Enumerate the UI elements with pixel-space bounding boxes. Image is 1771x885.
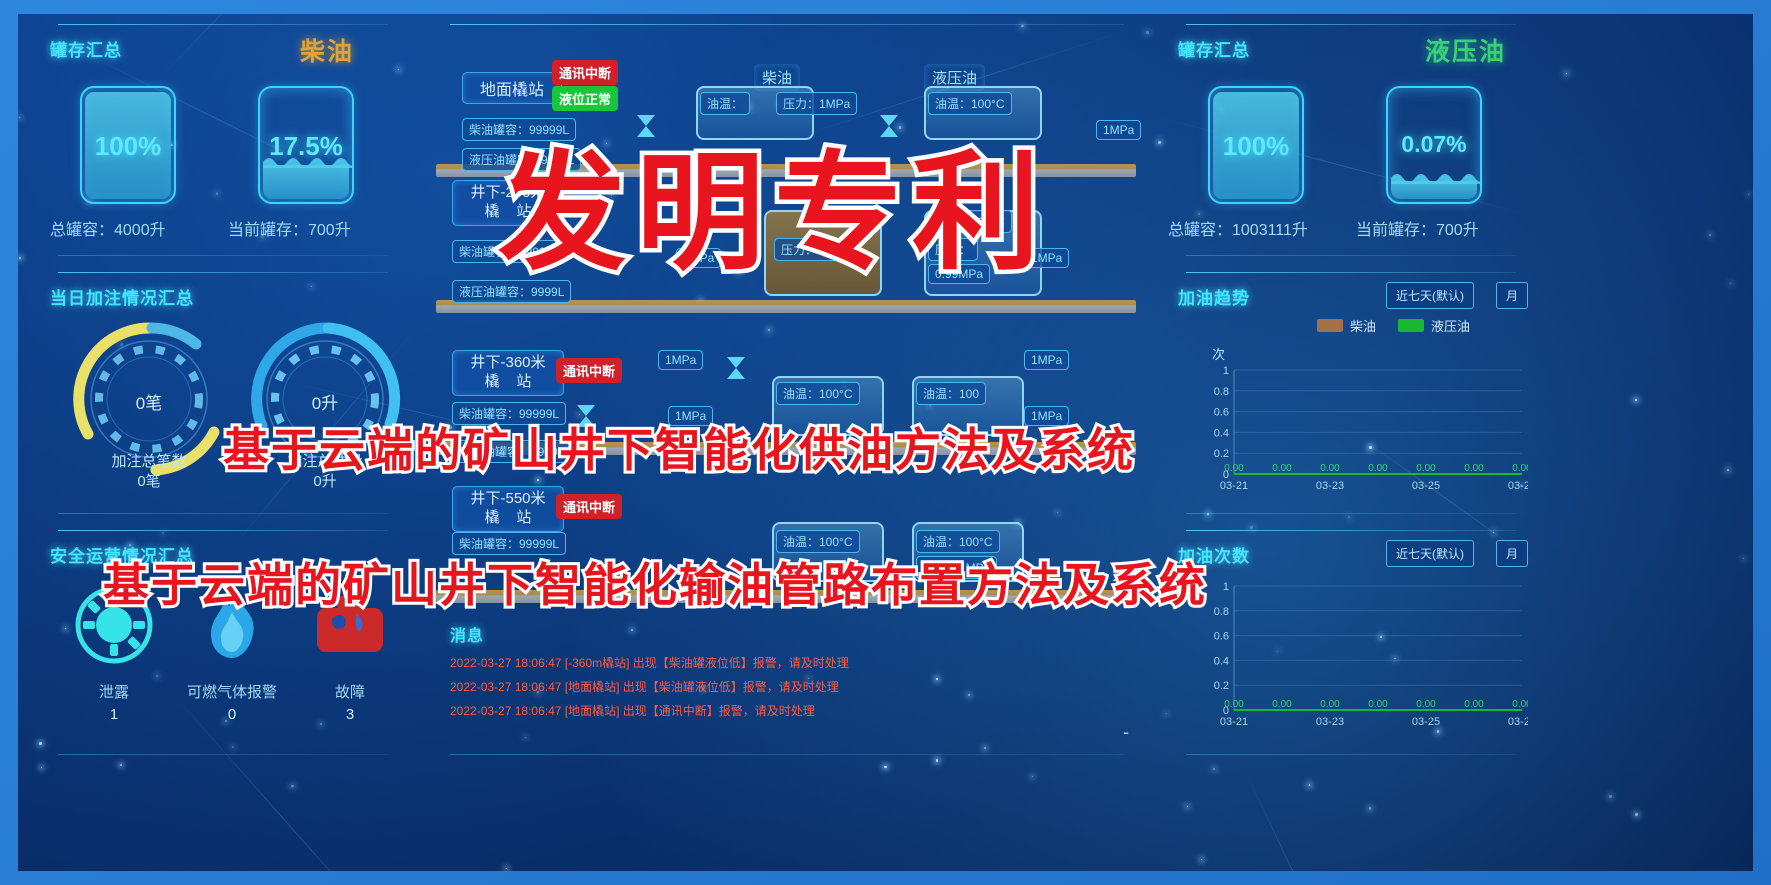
chart-point-label: 0.00 <box>1368 699 1388 710</box>
gauge-refuel-count-value: 0笔 <box>64 389 234 414</box>
gear-icon <box>71 582 157 668</box>
chart-point-label: 0.00 <box>1512 699 1528 710</box>
pressure-360-b: 1MPa <box>668 406 713 426</box>
tank-total-caption-hydraulic: 总罐容：1003111升 <box>1168 216 1308 240</box>
outer-frame: 罐存汇总 柴油 100% 总罐容：4000升 17.5% 当前罐存：700升 <box>0 0 1771 885</box>
chart-point-label: 0.00 <box>1272 463 1292 474</box>
panel-left-tank-summary: 罐存汇总 柴油 100% 总罐容：4000升 17.5% 当前罐存：700升 <box>32 24 414 256</box>
dashboard-board: 罐存汇总 柴油 100% 总罐容：4000升 17.5% 当前罐存：700升 <box>18 14 1753 871</box>
sensor-ground-diesel-pres: 压力：1MPa <box>776 92 857 115</box>
panel-title-refuel-count: 加油次数 <box>1178 542 1250 567</box>
panel-title-safety: 安全运营情况汇总 <box>50 542 194 567</box>
station-tag-200-hydraulic: 液压油罐容：9999L <box>452 280 571 303</box>
chart-x-tick-label: 03-27 <box>1508 716 1528 728</box>
station-name-360[interactable]: 井下-360米 橇 站 <box>452 350 564 396</box>
chart-x-tick-label: 03-25 <box>1412 716 1440 728</box>
tank-total-percent-diesel: 100% <box>82 131 174 162</box>
gauge-refuel-volume-caption: 加注总油量 0升 <box>235 452 415 493</box>
chart-x-tick-label: 03-21 <box>1220 716 1248 728</box>
sensor-200-diesel-pres: 压力：1MPa <box>774 238 855 261</box>
station-name-200[interactable]: 井下-200米 橇 站 <box>452 180 564 226</box>
panel-title-daily-refuel: 当日加注情况汇总 <box>50 284 194 309</box>
chart-point-label: 0.00 <box>1224 699 1244 710</box>
pressure-ground-right: 1MPa <box>1096 120 1141 140</box>
tank-gauge-current-hydraulic: 0.07% <box>1386 86 1482 204</box>
chart-svg: 00.20.40.60.810.000.000.000.000.000.000.… <box>1208 580 1528 732</box>
sensor-ground-hyd-temp: 油温：100°C <box>928 92 1012 115</box>
refuel-volume-caption-label: 加注总油量 <box>287 453 362 470</box>
station-badge-ground-comm: 通讯中断 <box>552 60 618 85</box>
station-tag-360-hydraulic: 液压油罐容：9999L <box>452 440 571 463</box>
tank-current-percent-diesel: 17.5% <box>260 131 352 162</box>
chart-trend-y-unit: 次 <box>1212 344 1225 363</box>
sensor-200-hyd-pres: 压力： <box>928 238 978 261</box>
safety-item-leak[interactable]: 泄露 1 <box>54 582 174 723</box>
chart-point-label: 0.00 <box>1416 463 1436 474</box>
chart-point-label: 0.00 <box>1368 463 1388 474</box>
safety-value-gas-alarm: 0 <box>172 706 292 723</box>
legend-item-diesel[interactable]: 柴油 <box>1317 316 1376 335</box>
legend-label-hydraulic: 液压油 <box>1431 316 1470 335</box>
chart-point-label: 0.00 <box>1320 463 1340 474</box>
tank-total-caption-diesel: 总罐容：4000升 <box>50 216 166 240</box>
sensor-550-hyd-pres: 压力：1MPa <box>916 556 997 579</box>
message-log-item: 2022-03-27 18:06:47 [地面橇站] 出现【通讯中断】报警，请及… <box>450 702 1090 719</box>
legend-item-hydraulic[interactable]: 液压油 <box>1398 316 1470 335</box>
message-log-title: 消息 <box>450 622 484 646</box>
sensor-200-hyd-pres2: 0.99MPa <box>928 264 990 284</box>
chart-point-label: 0.00 <box>1464 699 1484 710</box>
refuel-count-caption-label: 加注总笔数 <box>111 453 186 470</box>
panel-title-right-tank: 罐存汇总 <box>1178 36 1250 61</box>
gauge-refuel-count-caption: 加注总笔数 0笔 <box>59 452 239 493</box>
chart-x-tick-label: 03-21 <box>1220 480 1248 492</box>
chart-y-tick-label: 0.4 <box>1214 427 1229 439</box>
chart-y-tick-label: 0.6 <box>1214 407 1229 419</box>
legend-swatch-diesel <box>1317 319 1343 332</box>
chart-y-tick-label: 0.8 <box>1214 386 1229 398</box>
tank-current-caption-diesel: 当前罐存：700升 <box>228 216 351 240</box>
sensor-200-hyd-temp: 油温：100°C <box>928 210 1012 233</box>
station-tag-ground-hydraulic: 液压油罐容：9999L <box>462 148 581 171</box>
chart-y-tick-label: 1 <box>1223 581 1229 593</box>
chart-y-tick-label: 0.2 <box>1214 680 1229 692</box>
chart-svg: 00.20.40.60.810.000.000.000.000.000.000.… <box>1208 364 1528 496</box>
sensor-550-diesel-temp: 油温：100°C <box>776 530 860 553</box>
pressure-200-right: 1MPa <box>1024 248 1069 268</box>
message-log-item: 2022-03-27 18:06:47 [地面橇站] 出现【柴油罐液位低】报警，… <box>450 678 1090 695</box>
chart-x-tick-label: 03-23 <box>1316 480 1344 492</box>
panel-refuel-trend: 加油趋势 近七天(默认) 月 柴油 液压油 次 00.20.40.60.810.… <box>1160 272 1542 514</box>
sensor-550-hyd-temp: 油温：100°C <box>916 530 1000 553</box>
tank-current-percent-hydraulic: 0.07% <box>1388 131 1480 158</box>
oil-type-label-hydraulic: 液压油 <box>1425 32 1506 68</box>
panel-title-refuel-trend: 加油趋势 <box>1178 284 1250 309</box>
safety-item-gas-alarm[interactable]: 可燃气体报警 0 <box>172 582 292 723</box>
chart-point-label: 0.00 <box>1320 699 1340 710</box>
range-button-week-count[interactable]: 近七天(默认) <box>1386 540 1474 567</box>
chart-point-label: 0.00 <box>1464 463 1484 474</box>
chart-point-label: 0.00 <box>1272 699 1292 710</box>
chart-point-label: 0.00 <box>1224 463 1244 474</box>
sensor-360-diesel-temp: 油温：100°C <box>776 382 860 405</box>
safety-item-fault[interactable]: 故障 3 <box>290 582 410 723</box>
chart-x-tick-label: 03-27 <box>1508 480 1528 492</box>
message-log-list[interactable]: 2022-03-27 18:06:47 [-360m橇站] 出现【柴油罐液位低】… <box>450 654 1090 726</box>
pressure-360-c: 1MPa <box>1024 350 1069 370</box>
safety-label-fault: 故障 <box>290 681 410 702</box>
refuel-volume-caption-value: 0升 <box>313 473 336 490</box>
tank-total-percent-hydraulic: 100% <box>1210 131 1302 162</box>
legend-refuel-trend: 柴油 液压油 <box>1317 316 1470 335</box>
station-tag-360-diesel: 柴油罐容：99999L <box>452 402 566 425</box>
chart-refuel-trend: 00.20.40.60.810.000.000.000.000.000.000.… <box>1208 364 1528 496</box>
legend-label-diesel: 柴油 <box>1350 316 1376 335</box>
refuel-count-caption-value: 0笔 <box>137 473 160 490</box>
legend-swatch-hydraulic <box>1398 319 1424 332</box>
toolbox-icon <box>307 582 393 668</box>
oil-type-label-diesel: 柴油 <box>300 32 354 68</box>
chart-y-tick-label: 1 <box>1223 365 1229 377</box>
chart-x-tick-label: 03-25 <box>1412 480 1440 492</box>
deck-level-550 <box>436 590 1136 603</box>
range-button-week-trend[interactable]: 近七天(默认) <box>1386 282 1474 309</box>
safety-value-fault: 3 <box>290 706 410 723</box>
tank-gauge-current-diesel: 17.5% <box>258 86 354 204</box>
chart-point-label: 0.00 <box>1512 463 1528 474</box>
sensor-ground-diesel-temp: 油温： <box>700 92 750 115</box>
station-badge-ground-level: 液位正常 <box>552 86 618 111</box>
chart-x-tick-label: 03-23 <box>1316 716 1344 728</box>
safety-label-leak: 泄露 <box>54 681 174 702</box>
safety-value-leak: 1 <box>54 706 174 723</box>
tank-current-caption-hydraulic: 当前罐存：700升 <box>1356 216 1479 240</box>
station-tag-550-diesel: 柴油罐容：99999L <box>452 532 566 555</box>
chart-refuel-count: 00.20.40.60.810.000.000.000.000.000.000.… <box>1208 580 1528 732</box>
panel-safety-summary: 安全运营情况汇总 泄露 1 <box>32 530 414 755</box>
chart-y-tick-label: 0.4 <box>1214 655 1229 667</box>
tank-gauge-total-diesel: 100% <box>80 86 176 204</box>
station-tag-200-diesel: 柴油罐容：99999L <box>452 240 566 263</box>
range-button-month-trend[interactable]: 月 <box>1496 282 1528 309</box>
panel-refuel-count: 加油次数 近七天(默认) 月 00.20.40.60.810.000.000.0… <box>1160 530 1542 755</box>
sensor-360-hyd-temp: 油温：100 <box>916 382 986 405</box>
range-button-month-count[interactable]: 月 <box>1496 540 1528 567</box>
pressure-200-left: 1MPa <box>676 248 721 268</box>
panel-title-left-tank: 罐存汇总 <box>50 36 122 61</box>
station-badge-360-comm: 通讯中断 <box>556 358 622 383</box>
safety-label-gas-alarm: 可燃气体报警 <box>172 681 292 702</box>
panel-right-tank-summary: 罐存汇总 液压油 100% 总罐容：1003111升 0.07% 当前罐存：7 <box>1160 24 1542 256</box>
chart-y-tick-label: 0.6 <box>1214 631 1229 643</box>
minimize-button[interactable]: - <box>1116 722 1136 743</box>
gauge-refuel-volume-value: 0升 <box>240 389 410 414</box>
tank-gauge-total-hydraulic: 100% <box>1208 86 1304 204</box>
station-tag-ground-diesel: 柴油罐容：99999L <box>462 118 576 141</box>
station-badge-550-comm: 通讯中断 <box>556 494 622 519</box>
flame-icon <box>189 582 275 668</box>
chart-point-label: 0.00 <box>1416 699 1436 710</box>
pressure-360-a: 1MPa <box>658 350 703 370</box>
panel-center-schematic: 柴油 液压油 地面橇站 通讯中断 液位正常 柴油罐容：99999L 液压油罐容：… <box>424 24 1150 755</box>
chart-y-tick-label: 0.8 <box>1214 606 1229 618</box>
station-name-ground[interactable]: 地面橇站 <box>462 72 562 104</box>
wave-decoration <box>1391 170 1481 184</box>
station-name-550[interactable]: 井下-550米 橇 站 <box>452 486 564 532</box>
panel-daily-refuel-summary: 当日加注情况汇总 0笔 加注总笔数 0笔 <box>32 272 414 514</box>
chart-y-tick-label: 0.2 <box>1214 448 1229 460</box>
message-log-item: 2022-03-27 18:06:47 [-360m橇站] 出现【柴油罐液位低】… <box>450 654 1090 671</box>
pressure-360-d: 1MPa <box>1024 406 1069 426</box>
